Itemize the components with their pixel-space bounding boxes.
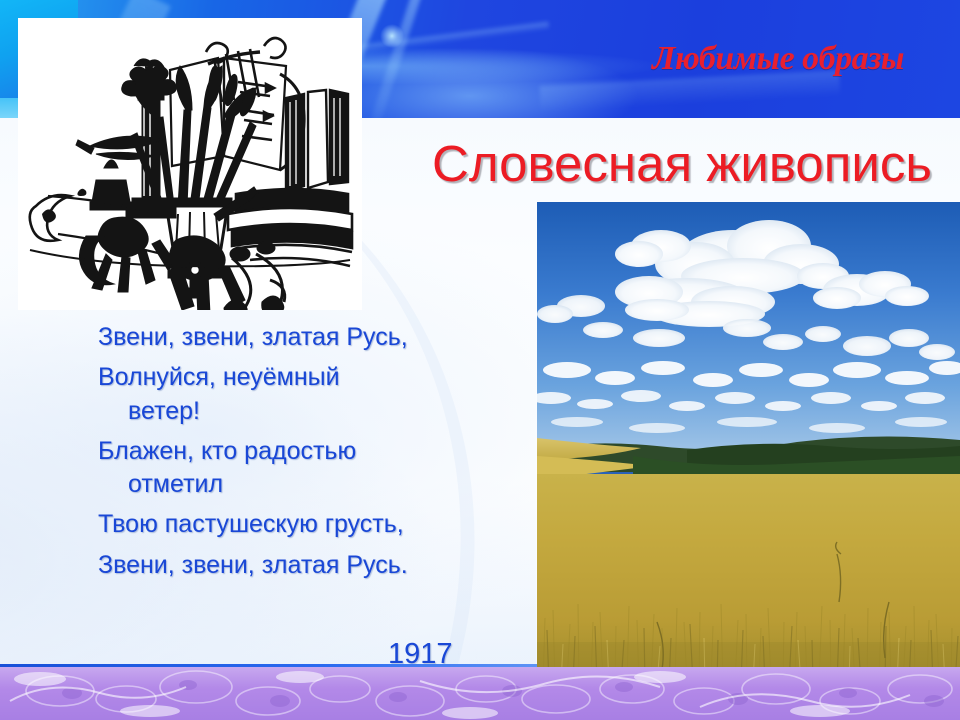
banner-heading: Любимые образы: [652, 40, 904, 78]
slide: Любимые образы Словесная живопись: [0, 0, 960, 720]
field-photo: [537, 202, 960, 684]
engraving-illustration-icon: [18, 18, 362, 310]
purple-band-texture: [0, 667, 960, 720]
poem-line: Волнуйся, неуёмный: [98, 362, 518, 393]
poem-line: ветер!: [98, 396, 518, 427]
bottom-purple-band: [0, 667, 960, 720]
wheat-field-photo-image: [537, 202, 960, 684]
poem-line: Блажен, кто радостью: [98, 436, 518, 467]
poem-line: отметил: [98, 469, 518, 500]
illustration-card: [18, 18, 362, 310]
poem-line: Звени, звени, златая Русь,: [98, 322, 518, 353]
poem-line: Звени, звени, златая Русь.: [98, 550, 518, 581]
poem-block: Звени, звени, златая Русь, Волнуйся, неу…: [98, 322, 518, 590]
poem-line: Твою пастушескую грусть,: [98, 509, 518, 540]
page-title: Словесная живопись: [432, 137, 960, 191]
